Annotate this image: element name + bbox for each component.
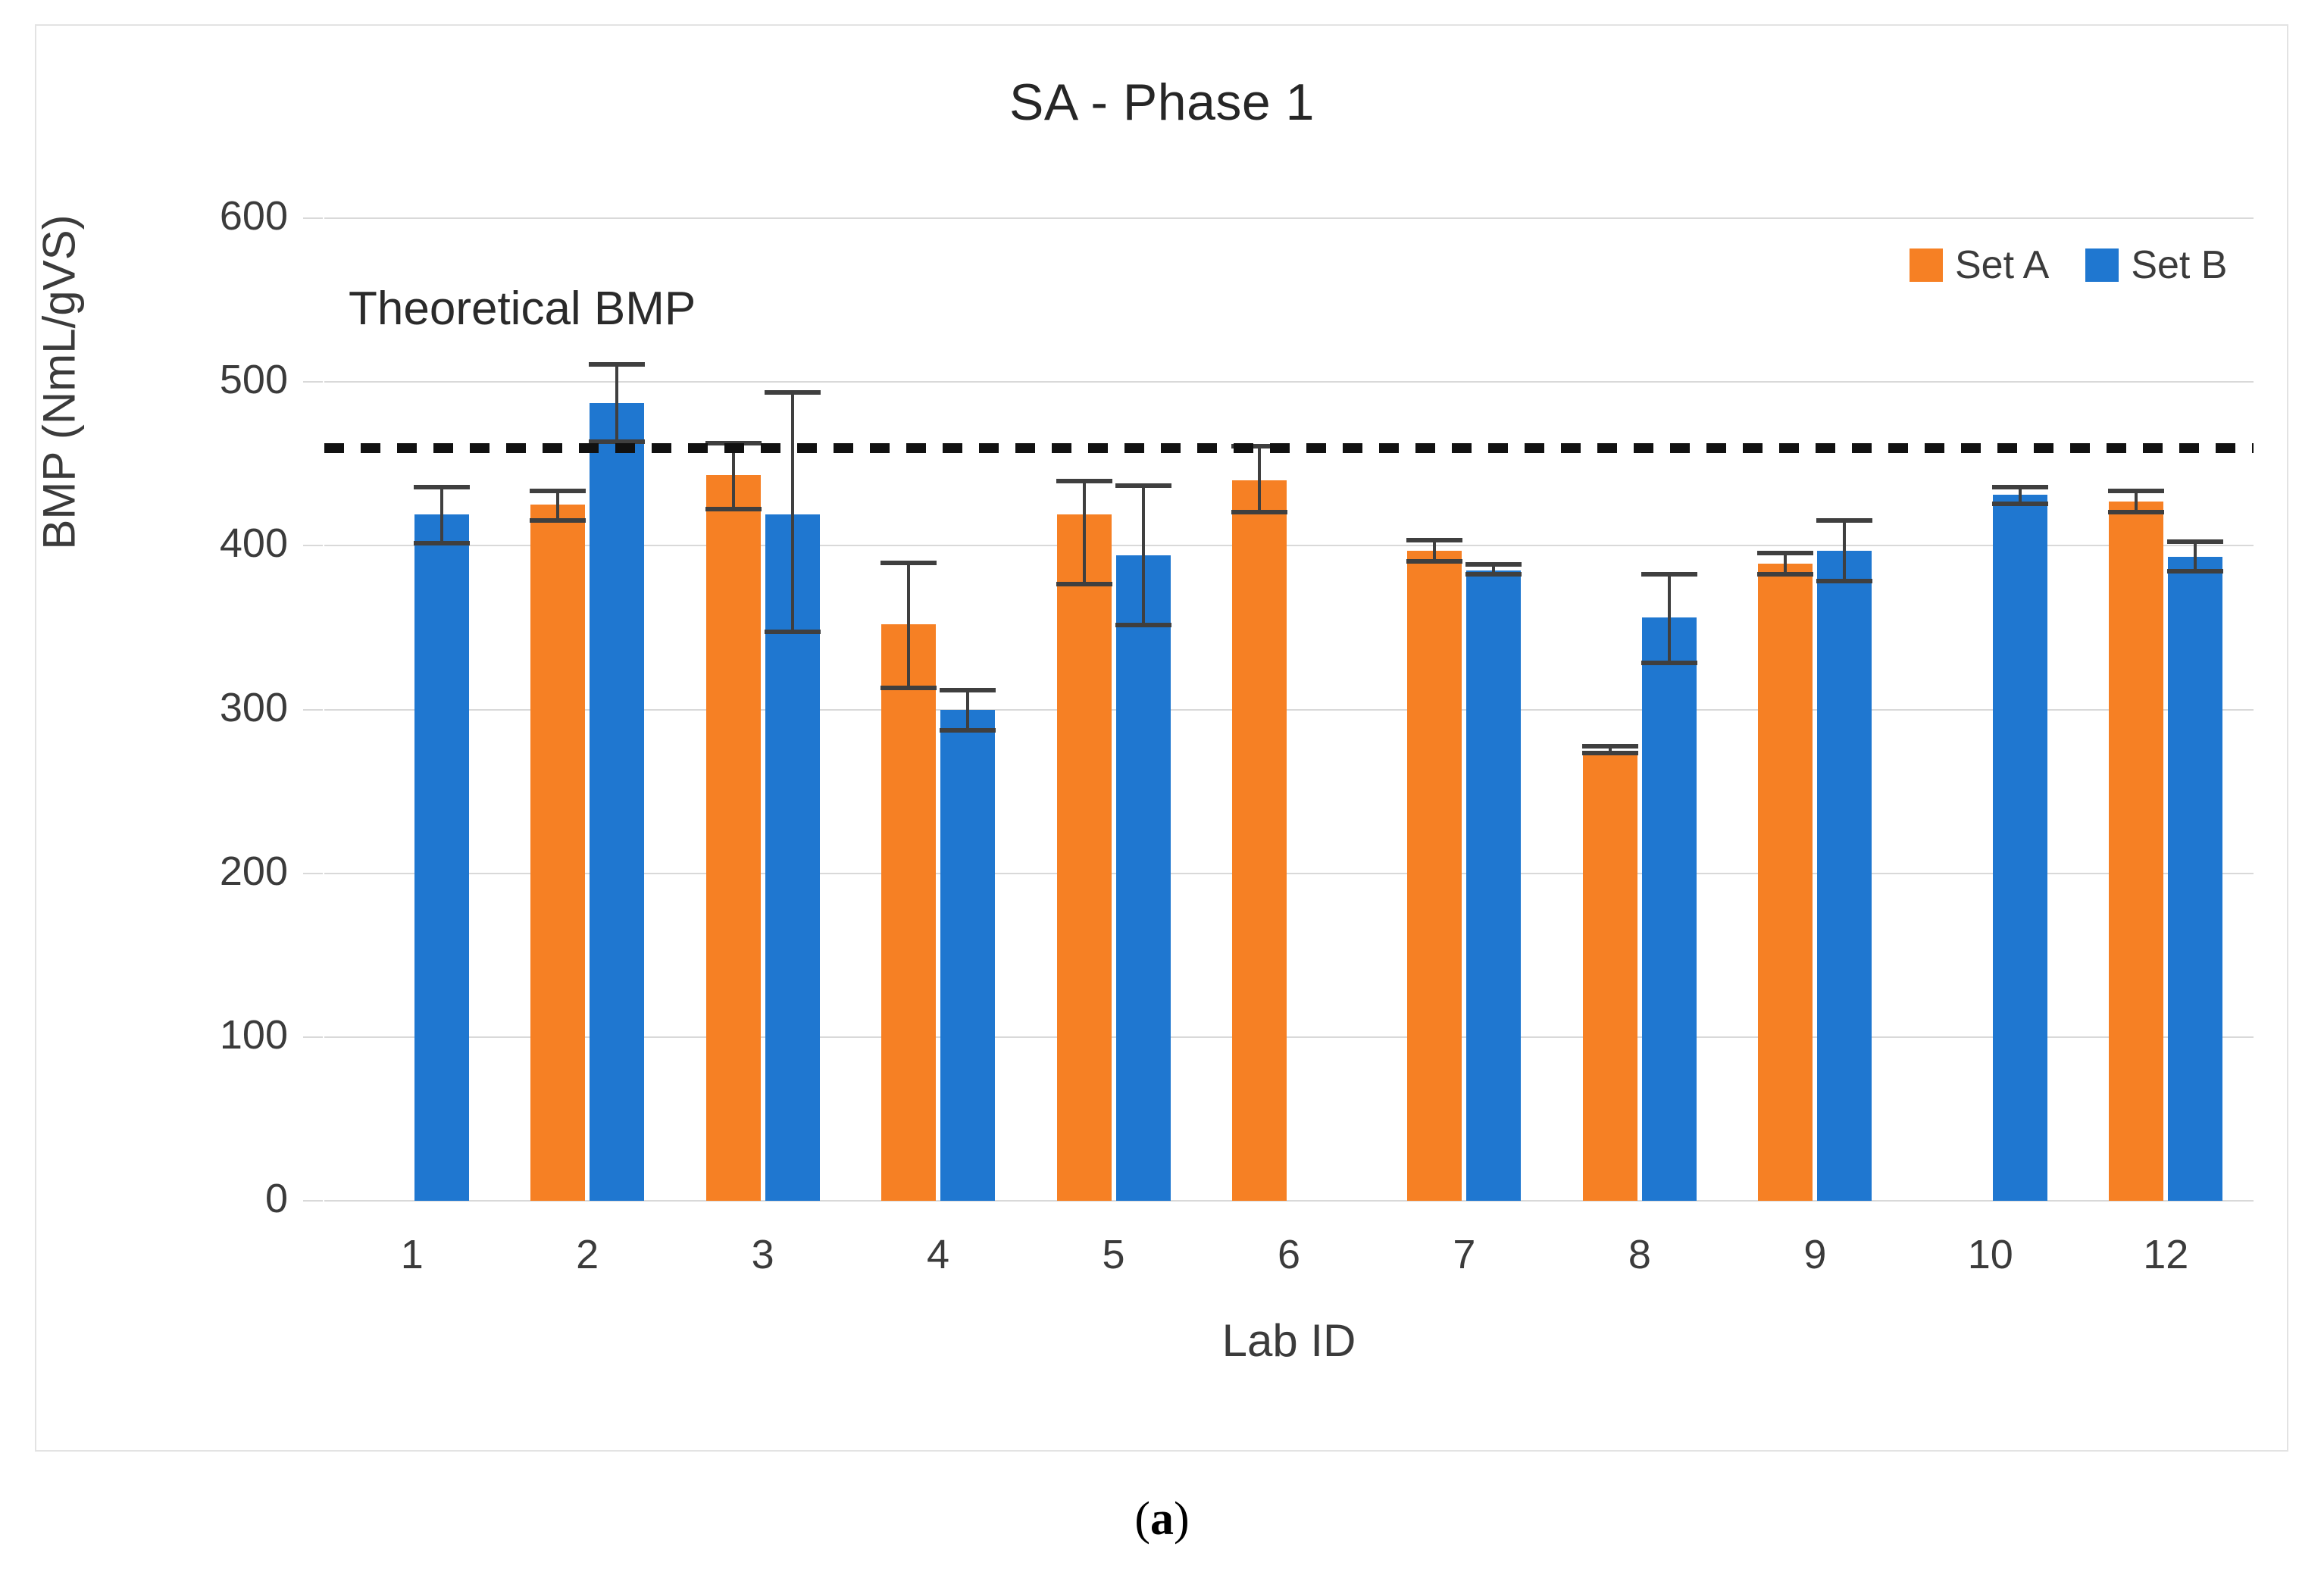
x-tick-label-10: 10	[1907, 1231, 2074, 1278]
bar-set-a-lab-8[interactable]	[1583, 751, 1637, 1201]
x-tick-label-6: 6	[1206, 1231, 1372, 1278]
bar-set-b-lab-4[interactable]	[940, 710, 995, 1202]
bar-set-b-lab-7[interactable]	[1466, 570, 1521, 1201]
bar-set-a-lab-6[interactable]	[1232, 480, 1287, 1201]
caption-close-paren: )	[1174, 1493, 1190, 1545]
bar-set-b-lab-10[interactable]	[1993, 495, 2047, 1201]
gridline-600	[324, 217, 2254, 219]
x-tick-label-7: 7	[1381, 1231, 1547, 1278]
gridline-500	[324, 381, 2254, 383]
bar-set-a-lab-9[interactable]	[1758, 564, 1813, 1201]
bar-set-a-lab-5[interactable]	[1057, 514, 1112, 1201]
x-tick-label-3: 3	[680, 1231, 846, 1278]
plot-area	[324, 218, 2254, 1201]
x-tick-label-1: 1	[329, 1231, 496, 1278]
bar-set-b-lab-8[interactable]	[1642, 617, 1697, 1201]
x-tick-label-8: 8	[1556, 1231, 1723, 1278]
bar-set-b-lab-2[interactable]	[590, 403, 644, 1201]
bar-set-a-lab-3[interactable]	[706, 475, 761, 1201]
x-tick-label-5: 5	[1031, 1231, 1197, 1278]
chart-title: SA - Phase 1	[0, 73, 2324, 132]
x-tick-label-9: 9	[1731, 1231, 1898, 1278]
bar-set-a-lab-7[interactable]	[1407, 551, 1462, 1201]
bar-set-b-lab-9[interactable]	[1817, 551, 1872, 1201]
x-axis-title: Lab ID	[324, 1314, 2254, 1367]
bar-set-a-lab-2[interactable]	[530, 505, 585, 1201]
y-axis-title: BMP (NmL/gVS)	[33, 80, 86, 686]
caption-letter: a	[1150, 1493, 1174, 1545]
bar-set-a-lab-4[interactable]	[881, 624, 936, 1201]
bar-set-b-lab-5[interactable]	[1116, 555, 1171, 1201]
bar-set-a-lab-12[interactable]	[2109, 502, 2163, 1201]
x-tick-label-2: 2	[504, 1231, 671, 1278]
caption-open-paren: (	[1134, 1493, 1150, 1545]
bar-set-b-lab-12[interactable]	[2168, 557, 2222, 1201]
x-tick-label-4: 4	[855, 1231, 1021, 1278]
figure-panel: SA - Phase 1 Theoretical BMP Set A Set B…	[0, 0, 2324, 1594]
theoretical-bmp-line	[324, 443, 2254, 453]
x-tick-label-12: 12	[2082, 1231, 2249, 1278]
bar-set-b-lab-1[interactable]	[414, 514, 469, 1201]
figure-caption: (a)	[0, 1492, 2324, 1546]
